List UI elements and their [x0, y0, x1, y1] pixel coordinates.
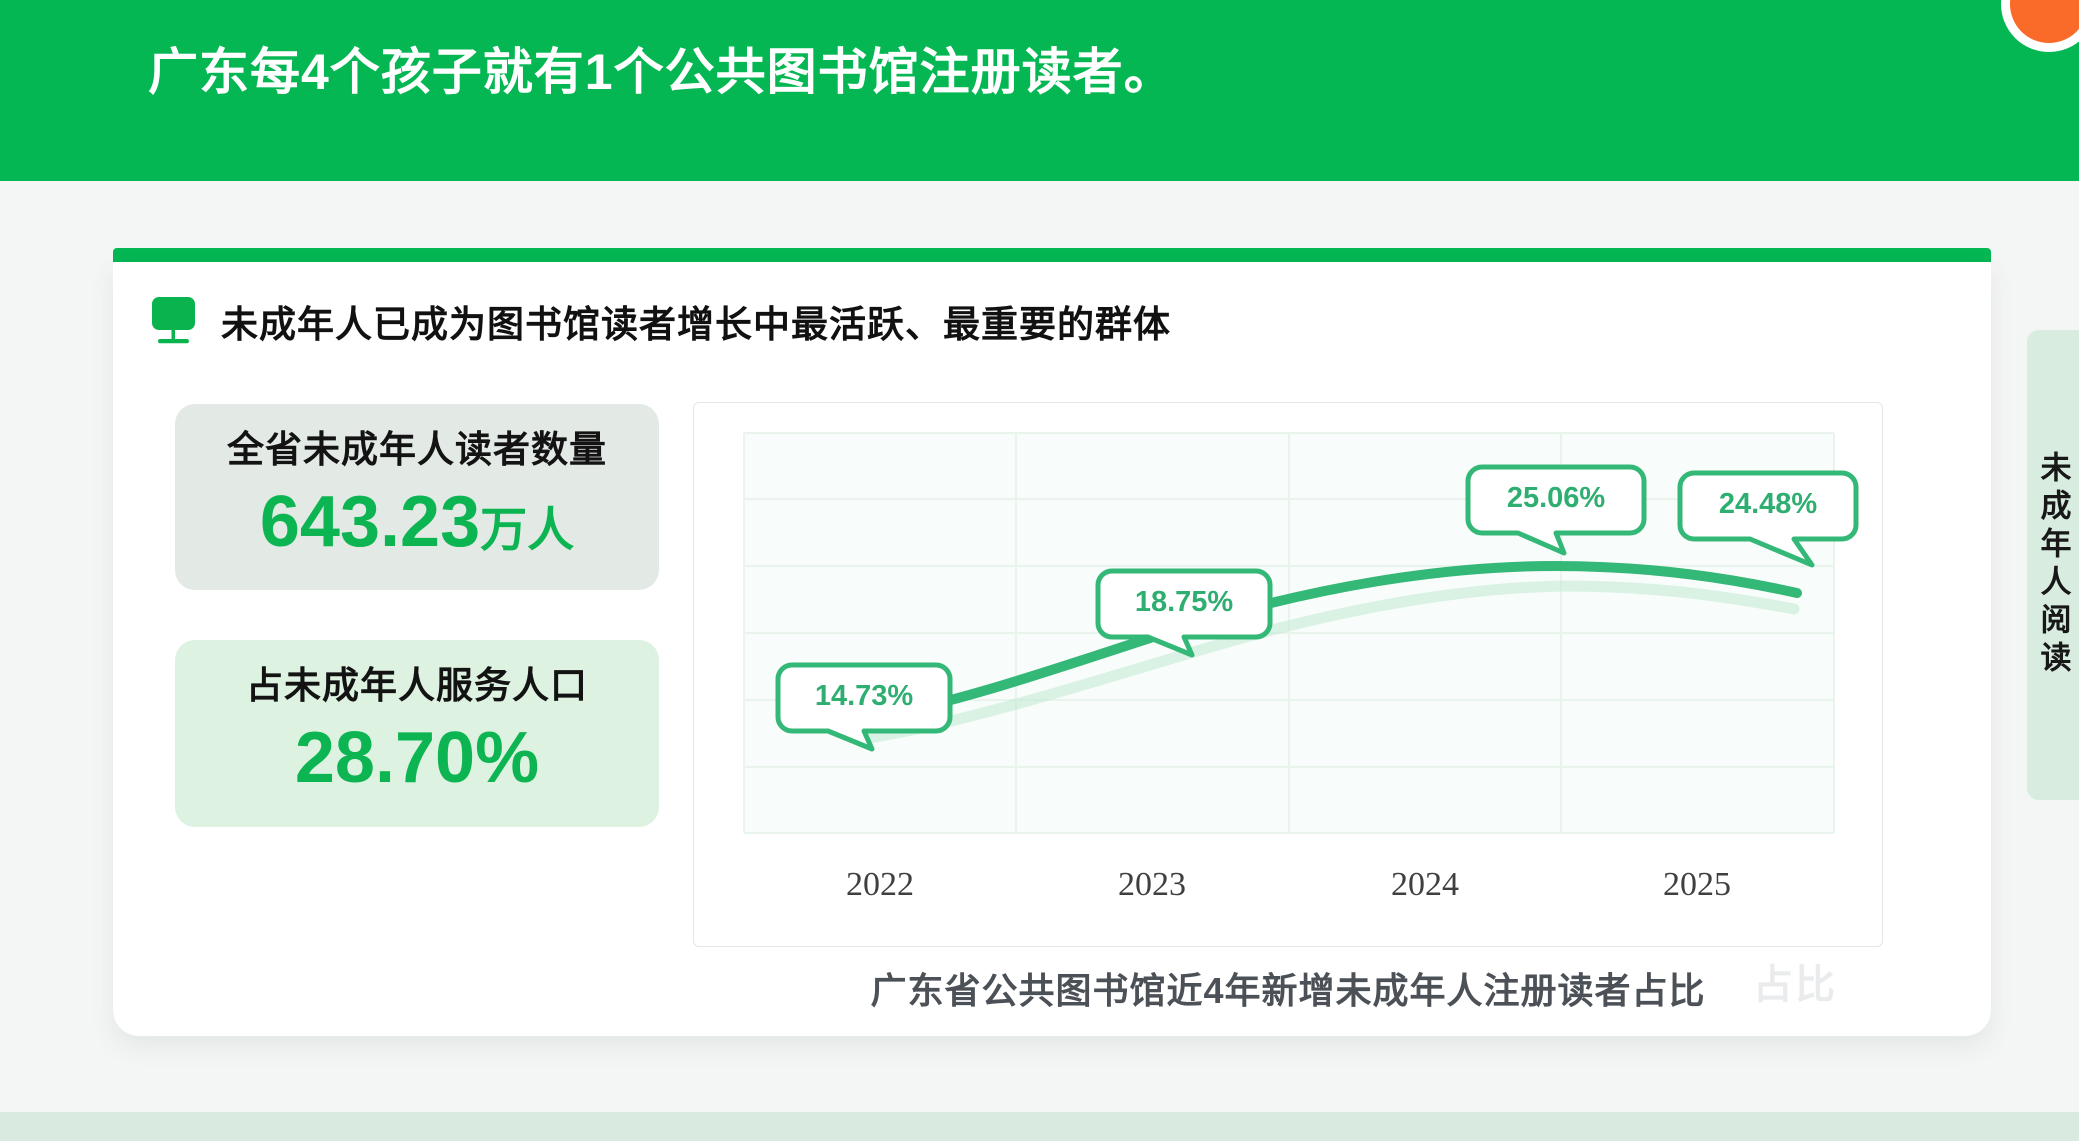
infographic-page: 广东每4个孩子就有1个公共图书馆注册读者。 未成年人阅读 未成年人已成为图书馆读… [0, 0, 2079, 1141]
stat-value-number: 643.23 [260, 482, 480, 562]
stat-box-readers-count: 全省未成年人读者数量 643.23万人 [175, 404, 659, 590]
x-tick-label: 2023 [1118, 866, 1186, 903]
monitor-icon [151, 297, 201, 345]
chart-caption: 广东省公共图书馆近4年新增未成年人注册读者占比 [693, 962, 1883, 1014]
card-heading-text: 未成年人已成为图书馆读者增长中最活跃、最重要的群体 [221, 294, 1171, 348]
data-label-text: 14.73% [815, 680, 914, 712]
stat-value: 28.70% [185, 721, 649, 797]
page-title: 广东每4个孩子就有1个公共图书馆注册读者。 [148, 32, 1175, 104]
line-chart: 14.73% 18.75% 25.06% 24.48% [694, 403, 1884, 948]
bottom-strip [0, 1112, 2079, 1141]
x-tick-label: 2022 [846, 866, 914, 903]
data-label-text: 18.75% [1135, 586, 1234, 618]
main-card: 未成年人已成为图书馆读者增长中最活跃、最重要的群体 全省未成年人读者数量 643… [113, 262, 1991, 1036]
chart-panel: 14.73% 18.75% 25.06% 24.48% [693, 402, 1883, 947]
card-accent-bar [113, 248, 1991, 262]
decorative-circle-icon [2001, 0, 2079, 52]
x-tick-label: 2025 [1663, 866, 1731, 903]
side-tab-label: 未成年人阅读 [2038, 451, 2069, 679]
stat-value: 643.23万人 [185, 485, 649, 561]
stat-box-share-of-population: 占未成年人服务人口 28.70% [175, 640, 659, 826]
x-axis-labels: 2022 2023 2024 2025 [846, 866, 1731, 903]
card-heading: 未成年人已成为图书馆读者增长中最活跃、最重要的群体 [151, 294, 1171, 348]
data-label-text: 24.48% [1719, 488, 1818, 520]
x-tick-label: 2024 [1391, 866, 1459, 903]
data-label-text: 25.06% [1507, 482, 1606, 514]
page-banner: 广东每4个孩子就有1个公共图书馆注册读者。 [0, 0, 2079, 181]
stat-value-number: 28.70% [295, 718, 539, 798]
side-tab-minors-reading[interactable]: 未成年人阅读 [2027, 330, 2079, 800]
stat-label: 占未成年人服务人口 [185, 666, 649, 707]
stat-label: 全省未成年人读者数量 [185, 430, 649, 471]
stat-column: 全省未成年人读者数量 643.23万人 占未成年人服务人口 28.70% [175, 404, 659, 827]
stat-value-unit: 万人 [480, 503, 574, 556]
